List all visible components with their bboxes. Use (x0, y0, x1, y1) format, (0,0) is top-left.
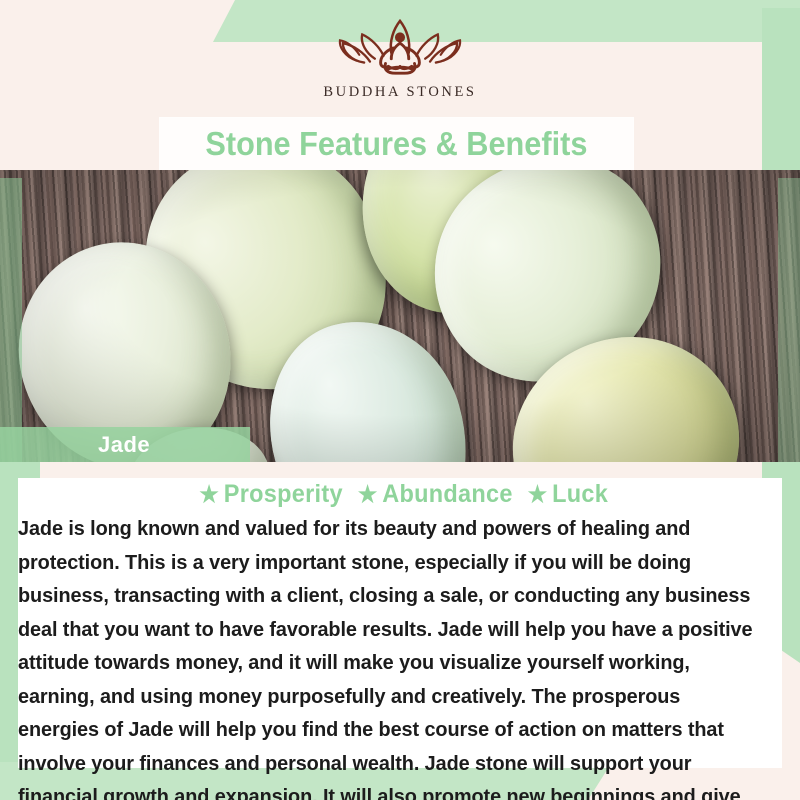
star-icon: ★ (358, 481, 378, 507)
description-text: Jade is long known and valued for its be… (18, 512, 761, 800)
stone-photo (0, 170, 800, 462)
stone-name-bar: Jade (0, 427, 250, 462)
star-icon: ★ (199, 481, 219, 507)
lotus-meditation-icon (325, 18, 475, 80)
star-icon: ★ (528, 481, 548, 507)
keyword-prosperity: Prosperity (224, 480, 343, 508)
keyword-luck: Luck (552, 480, 608, 508)
brand-name: BUDDHA STONES (323, 84, 476, 101)
page-title: Stone Features & Benefits (205, 125, 587, 163)
decor-photo-left-strip (0, 178, 22, 462)
page-title-panel: Stone Features & Benefits (160, 118, 633, 170)
keyword-list: ★Prosperity★Abundance★Luck (24, 480, 776, 509)
stone-features-infographic: BUDDHA STONES Stone Features & Benefits … (0, 0, 800, 800)
brand-header: BUDDHA STONES (0, 0, 800, 118)
stone-name-label: Jade (98, 432, 150, 458)
keyword-abundance: Abundance (382, 480, 512, 508)
decor-photo-right-strip (778, 178, 800, 462)
